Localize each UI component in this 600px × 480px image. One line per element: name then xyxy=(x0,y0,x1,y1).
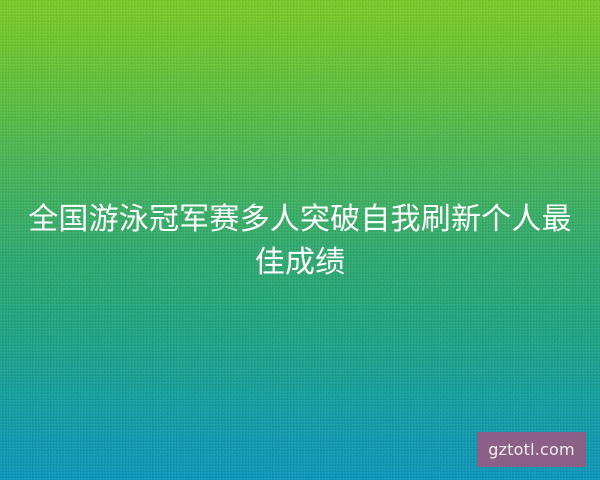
cover-title: 全国游泳冠军赛多人突破自我刷新个人最佳成绩 xyxy=(28,198,572,284)
watermark-label: gztotl.com xyxy=(488,442,575,458)
cover-image: 全国游泳冠军赛多人突破自我刷新个人最佳成绩 gztotl.com xyxy=(0,0,600,480)
title-container: 全国游泳冠军赛多人突破自我刷新个人最佳成绩 xyxy=(0,198,600,284)
watermark-badge: gztotl.com xyxy=(477,432,586,467)
